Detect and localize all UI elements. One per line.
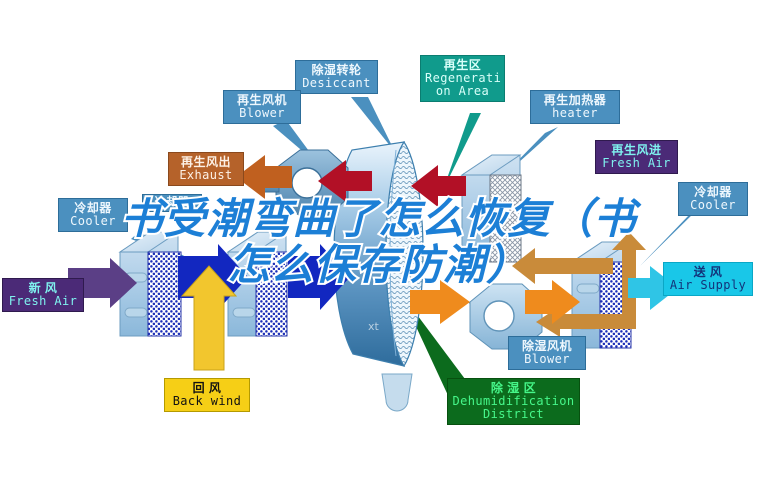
watermark-title-overlay: 书受潮弯曲了怎么恢复（书 怎么保存防潮） [0, 196, 757, 288]
label-back-wind-en: Back wind [169, 395, 245, 408]
label-regeneration-blower-cn: 再生风机 [228, 94, 296, 107]
label-desiccant-rotor[interactable]: 除湿转轮 Desiccant [295, 60, 378, 94]
label-regeneration-heater[interactable]: 再生加热器 heater [530, 90, 620, 124]
label-fresh-air-regeneration-en: Fresh Air [600, 157, 673, 170]
dehumidifier-flow-diagram: xt [0, 0, 757, 488]
label-dehumidification-district[interactable]: 除 湿 区 Dehumidification District [447, 378, 580, 425]
label-desiccant-rotor-cn: 除湿转轮 [300, 64, 373, 77]
label-regeneration-heater-en: heater [535, 107, 615, 120]
label-regeneration-area-en2: on Area [425, 85, 500, 98]
label-fresh-air-regeneration-cn: 再生风进 [600, 144, 673, 157]
label-exhaust[interactable]: 再生风出 Exhaust [168, 152, 244, 186]
label-regeneration-heater-cn: 再生加热器 [535, 94, 615, 107]
label-back-wind[interactable]: 回 风 Back wind [164, 378, 250, 412]
label-exhaust-en: Exhaust [173, 169, 239, 182]
label-dehumidification-blower[interactable]: 除湿风机 Blower [508, 336, 586, 370]
svg-text:xt: xt [368, 320, 380, 333]
watermark-line-2: 怎么保存防潮） [0, 242, 757, 288]
label-regeneration-area-cn: 再生区 [425, 59, 500, 72]
label-regeneration-blower-en: Blower [228, 107, 296, 120]
label-back-wind-cn: 回 风 [169, 382, 245, 395]
watermark-line-1: 书受潮弯曲了怎么恢复（书 [0, 196, 757, 242]
label-dehumidification-blower-en: Blower [513, 353, 581, 366]
label-desiccant-rotor-en: Desiccant [300, 77, 373, 90]
label-regeneration-area-en1: Regenerati [425, 72, 500, 85]
label-dehumidification-district-en2: District [452, 408, 575, 421]
label-dehumidification-district-en1: Dehumidification [452, 395, 575, 408]
label-regeneration-blower[interactable]: 再生风机 Blower [223, 90, 301, 124]
label-exhaust-cn: 再生风出 [173, 156, 239, 169]
label-fresh-air-regeneration[interactable]: 再生风进 Fresh Air [595, 140, 678, 174]
label-dehumidification-blower-cn: 除湿风机 [513, 340, 581, 353]
label-fresh-air-process-en: Fresh Air [7, 295, 79, 308]
label-dehumidification-district-cn: 除 湿 区 [452, 382, 575, 395]
label-regeneration-area[interactable]: 再生区 Regenerati on Area [420, 55, 505, 102]
